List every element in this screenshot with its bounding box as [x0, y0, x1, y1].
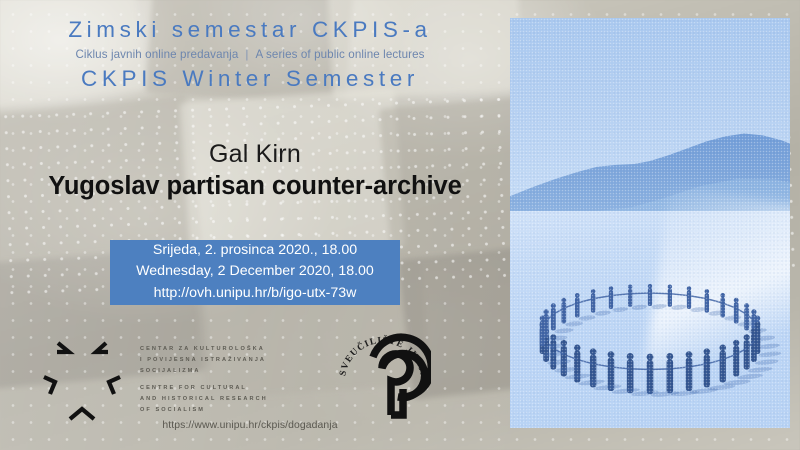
title-croatian: Zimski semestar CKPIS-a — [0, 16, 500, 43]
ckpis-logo — [30, 333, 134, 425]
centre-en-line-2: AND HISTORICAL RESEARCH — [140, 394, 268, 405]
poster-header: Zimski semestar CKPIS-a Ciklus javnih on… — [0, 16, 500, 93]
bracket-mid-left — [44, 377, 55, 394]
speaker-name: Gal Kirn — [0, 140, 510, 169]
bracket-top-right — [96, 343, 108, 352]
centre-en-line-3: OF SOCIALISM — [140, 405, 268, 416]
event-details-box: Srijeda, 2. prosinca 2020., 18.00 Wednes… — [110, 240, 400, 305]
bracket-top-left — [57, 343, 69, 352]
subtitle-bilingual: Ciklus javnih online predavanja|A series… — [0, 48, 500, 61]
event-date-croatian: Srijeda, 2. prosinca 2020., 18.00 — [153, 240, 357, 260]
bracket-bottom — [70, 409, 94, 419]
university-logo: SVEUČILIŠTE JURJA DOBRILE U PULI — [335, 329, 431, 425]
lecture-poster: Zimski semestar CKPIS-a Ciklus javnih on… — [0, 0, 800, 450]
event-date-english: Wednesday, 2 December 2020, 18.00 — [136, 261, 374, 281]
centre-hr-line-3: SOCIJALIZMA — [140, 366, 268, 377]
website-url[interactable]: https://www.unipu.hr/ckpis/dogadanja — [0, 420, 500, 431]
bracket-mid-right — [109, 377, 120, 394]
subtitle-separator: | — [238, 48, 255, 61]
centre-name-block: CENTAR ZA KULTUROLOŠKA I POVIJESNA ISTRA… — [140, 344, 268, 415]
centre-hr-line-1: CENTAR ZA KULTUROLOŠKA — [140, 344, 268, 355]
photo-film-grain — [510, 18, 790, 428]
subtitle-english: A series of public online lectures — [256, 48, 425, 61]
winter-scene-photo — [510, 18, 790, 428]
title-english: CKPIS Winter Semester — [0, 65, 500, 92]
centre-hr-line-2: I POVIJESNA ISTRAŽIVANJA — [140, 355, 268, 366]
subtitle-croatian: Ciklus javnih online predavanja — [75, 48, 238, 61]
event-stream-link[interactable]: http://ovh.unipu.hr/b/igo-utx-73w — [154, 283, 357, 303]
centre-en-line-1: CENTRE FOR CULTURAL — [140, 383, 268, 394]
page-title: Yugoslav partisan counter-archive — [0, 172, 510, 201]
